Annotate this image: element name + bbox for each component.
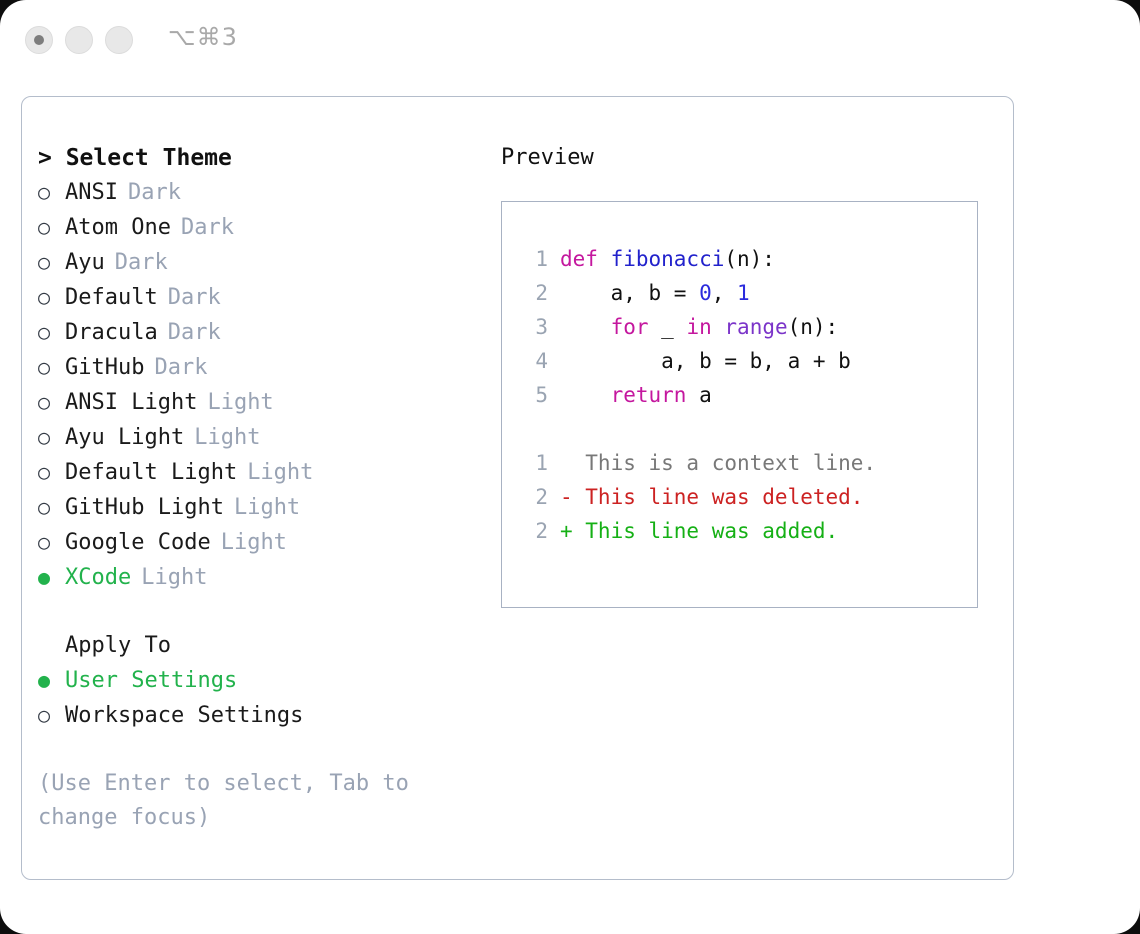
line-number: 4 — [518, 344, 548, 378]
theme-option-label: Ayu Light — [65, 421, 184, 455]
radio-unselected-icon: ○ — [38, 350, 65, 384]
theme-option[interactable]: ○GitHubDark — [38, 350, 488, 385]
diff-line: 1 This is a context line. — [518, 446, 977, 480]
diff-line: 2+ This line was added. — [518, 514, 977, 548]
theme-option-label: Default Light — [65, 456, 237, 490]
line-content: return a — [560, 378, 712, 412]
line-number: 2 — [518, 480, 548, 514]
apply-to-option[interactable]: ●User Settings — [38, 663, 488, 698]
code-line: 1def fibonacci(n): — [518, 242, 977, 276]
theme-option-label: Ayu — [65, 246, 105, 280]
radio-unselected-icon: ○ — [38, 525, 65, 559]
theme-list-pane: > Select Theme ○ANSIDark○Atom OneDark○Ay… — [38, 141, 488, 835]
theme-option-label: Google Code — [65, 526, 211, 560]
radio-unselected-icon: ○ — [38, 280, 65, 314]
line-number: 1 — [518, 446, 548, 480]
radio-unselected-icon: ○ — [38, 245, 65, 279]
theme-option[interactable]: ○Default LightLight — [38, 455, 488, 490]
code-line: 4 a, b = b, a + b — [518, 344, 977, 378]
apply-to-option-label: Workspace Settings — [65, 699, 303, 733]
line-number: 5 — [518, 378, 548, 412]
theme-option-label: GitHub Light — [65, 491, 224, 525]
theme-variant-tag: Light — [234, 491, 300, 525]
app-window: ⌥⌘3 > Select Theme ○ANSIDark○Atom OneDar… — [0, 0, 1140, 934]
line-number: 3 — [518, 310, 548, 344]
theme-variant-tag: Dark — [181, 211, 234, 245]
select-theme-heading: > Select Theme — [38, 141, 488, 175]
apply-to-option-label: User Settings — [65, 664, 237, 698]
theme-option[interactable]: ●XCodeLight — [38, 560, 488, 595]
theme-variant-tag: Light — [221, 526, 287, 560]
theme-option-label: GitHub — [65, 351, 144, 385]
theme-option-label: ANSI Light — [65, 386, 197, 420]
code-line: 2 a, b = 0, 1 — [518, 276, 977, 310]
theme-list: ○ANSIDark○Atom OneDark○AyuDark○DefaultDa… — [38, 175, 488, 595]
radio-unselected-icon: ○ — [38, 698, 65, 732]
radio-selected-icon: ● — [38, 663, 65, 697]
code-line: 3 for _ in range(n): — [518, 310, 977, 344]
code-spacer — [518, 412, 977, 446]
apply-to-option[interactable]: ○Workspace Settings — [38, 698, 488, 733]
line-number: 2 — [518, 514, 548, 548]
keyboard-hint-text: (Use Enter to select, Tab to change focu… — [38, 767, 448, 835]
radio-unselected-icon: ○ — [38, 175, 65, 209]
theme-option-label: XCode — [65, 561, 131, 595]
theme-option-label: Dracula — [65, 316, 158, 350]
window-dot-active[interactable] — [25, 26, 53, 54]
radio-unselected-icon: ○ — [38, 210, 65, 244]
preview-box: 1def fibonacci(n):2 a, b = 0, 13 for _ i… — [501, 201, 978, 608]
line-content: a, b = b, a + b — [560, 344, 851, 378]
line-content: def fibonacci(n): — [560, 242, 775, 276]
keyboard-shortcut-label: ⌥⌘3 — [168, 23, 238, 51]
line-number: 1 — [518, 242, 548, 276]
line-content: a, b = 0, 1 — [560, 276, 750, 310]
code-line: 5 return a — [518, 378, 977, 412]
theme-selector-dialog: > Select Theme ○ANSIDark○Atom OneDark○Ay… — [21, 96, 1014, 880]
preview-title: Preview — [501, 141, 991, 175]
theme-option-label: ANSI — [65, 176, 118, 210]
line-content: + This line was added. — [560, 514, 838, 548]
line-number: 2 — [518, 276, 548, 310]
theme-option[interactable]: ○AyuDark — [38, 245, 488, 280]
preview-pane: Preview 1def fibonacci(n):2 a, b = 0, 13… — [501, 141, 991, 608]
theme-option[interactable]: ○Atom OneDark — [38, 210, 488, 245]
radio-unselected-icon: ○ — [38, 490, 65, 524]
theme-option-label: Atom One — [65, 211, 171, 245]
theme-variant-tag: Dark — [154, 351, 207, 385]
window-dot-second[interactable] — [65, 26, 93, 54]
code-sample: 1def fibonacci(n):2 a, b = 0, 13 for _ i… — [502, 202, 977, 548]
theme-variant-tag: Dark — [128, 176, 181, 210]
theme-option[interactable]: ○ANSI LightLight — [38, 385, 488, 420]
line-content: This is a context line. — [560, 446, 876, 480]
apply-to-heading: Apply To — [38, 629, 488, 663]
theme-option[interactable]: ○GitHub LightLight — [38, 490, 488, 525]
theme-variant-tag: Light — [141, 561, 207, 595]
radio-unselected-icon: ○ — [38, 420, 65, 454]
radio-selected-icon: ● — [38, 560, 65, 594]
theme-variant-tag: Dark — [168, 316, 221, 350]
theme-variant-tag: Dark — [168, 281, 221, 315]
radio-unselected-icon: ○ — [38, 315, 65, 349]
theme-variant-tag: Light — [194, 421, 260, 455]
theme-option[interactable]: ○Ayu LightLight — [38, 420, 488, 455]
theme-option[interactable]: ○DefaultDark — [38, 280, 488, 315]
apply-to-options: ●User Settings○Workspace Settings — [38, 663, 488, 733]
theme-option[interactable]: ○ANSIDark — [38, 175, 488, 210]
line-content: for _ in range(n): — [560, 310, 838, 344]
theme-option-label: Default — [65, 281, 158, 315]
active-indicator-dot — [34, 35, 44, 45]
radio-unselected-icon: ○ — [38, 455, 65, 489]
radio-unselected-icon: ○ — [38, 385, 65, 419]
line-content: - This line was deleted. — [560, 480, 863, 514]
diff-line: 2- This line was deleted. — [518, 480, 977, 514]
theme-option[interactable]: ○Google CodeLight — [38, 525, 488, 560]
theme-variant-tag: Light — [247, 456, 313, 490]
theme-variant-tag: Dark — [115, 246, 168, 280]
title-bar: ⌥⌘3 — [0, 0, 1140, 80]
theme-option[interactable]: ○DraculaDark — [38, 315, 488, 350]
window-dot-third[interactable] — [105, 26, 133, 54]
theme-variant-tag: Light — [207, 386, 273, 420]
